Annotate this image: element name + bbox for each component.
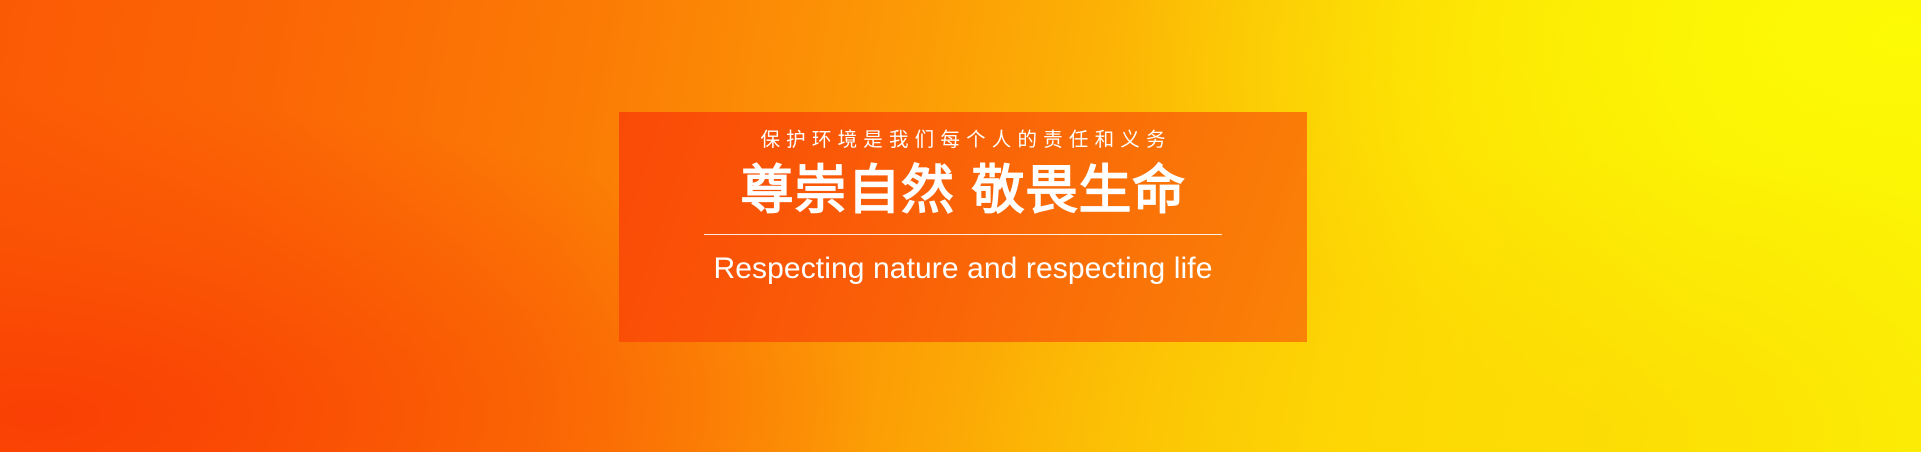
- banner-headline-part-1: 尊崇自然: [741, 161, 955, 220]
- banner-kicker-text: 保护环境是我们每个人的责任和义务: [754, 131, 1171, 151]
- banner-stage: 保护环境是我们每个人的责任和义务 尊崇自然敬畏生命 Respecting nat…: [0, 0, 1921, 452]
- banner-headline-part-2: 敬畏生命: [972, 161, 1186, 220]
- banner-headline: 尊崇自然敬畏生命: [741, 163, 1186, 219]
- banner-content: 保护环境是我们每个人的责任和义务 尊崇自然敬畏生命 Respecting nat…: [704, 131, 1222, 284]
- banner-divider: [704, 234, 1222, 236]
- banner-subline-text: Respecting nature and respecting life: [713, 254, 1212, 284]
- banner-panel: 保护环境是我们每个人的责任和义务 尊崇自然敬畏生命 Respecting nat…: [619, 112, 1307, 342]
